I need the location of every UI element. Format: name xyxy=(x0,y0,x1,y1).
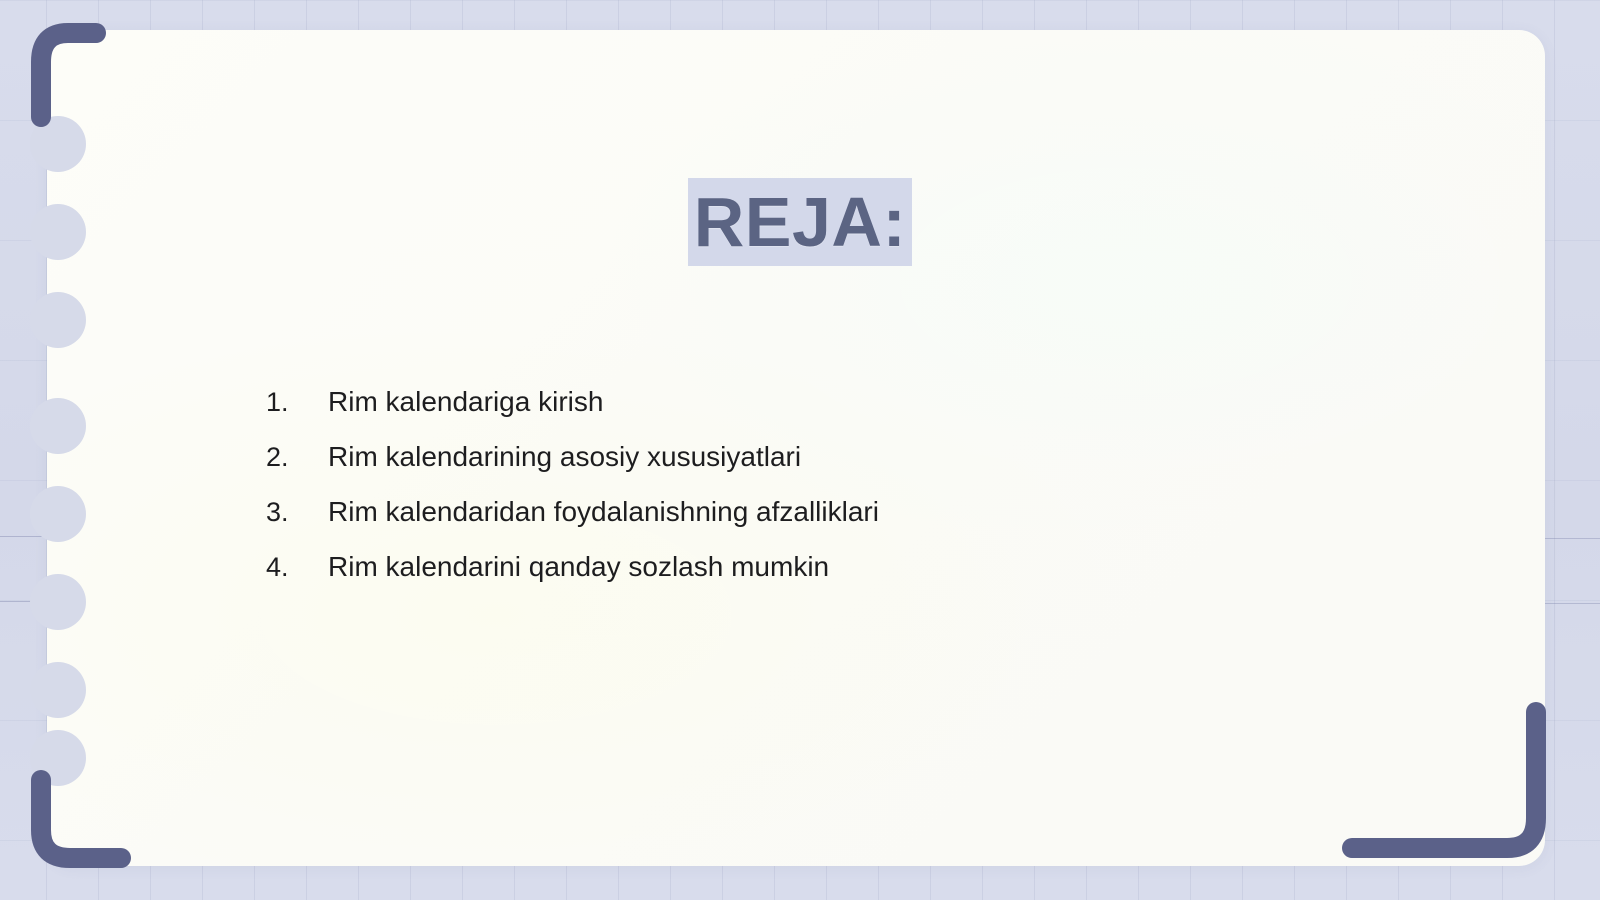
plan-list: 1. Rim kalendariga kirish 2. Rim kalenda… xyxy=(266,386,1366,606)
list-item-label: Rim kalendariga kirish xyxy=(328,386,603,418)
list-item-number: 3. xyxy=(266,497,328,528)
list-item: 3. Rim kalendaridan foydalanishning afza… xyxy=(266,496,1366,551)
slide-canvas: REJA: 1. Rim kalendariga kirish 2. Rim k… xyxy=(0,0,1600,900)
list-item-label: Rim kalendaridan foydalanishning afzalli… xyxy=(328,496,879,528)
list-item-label: Rim kalendarini qanday sozlash mumkin xyxy=(328,551,829,583)
list-item: 2. Rim kalendarining asosiy xususiyatlar… xyxy=(266,441,1366,496)
list-item-number: 4. xyxy=(266,552,328,583)
slide-title-container: REJA: xyxy=(0,178,1600,266)
page-title: REJA: xyxy=(688,178,913,266)
list-item-number: 2. xyxy=(266,442,328,473)
list-item: 1. Rim kalendariga kirish xyxy=(266,386,1366,441)
list-item: 4. Rim kalendarini qanday sozlash mumkin xyxy=(266,551,1366,606)
list-item-label: Rim kalendarining asosiy xususiyatlari xyxy=(328,441,801,473)
list-item-number: 1. xyxy=(266,387,328,418)
